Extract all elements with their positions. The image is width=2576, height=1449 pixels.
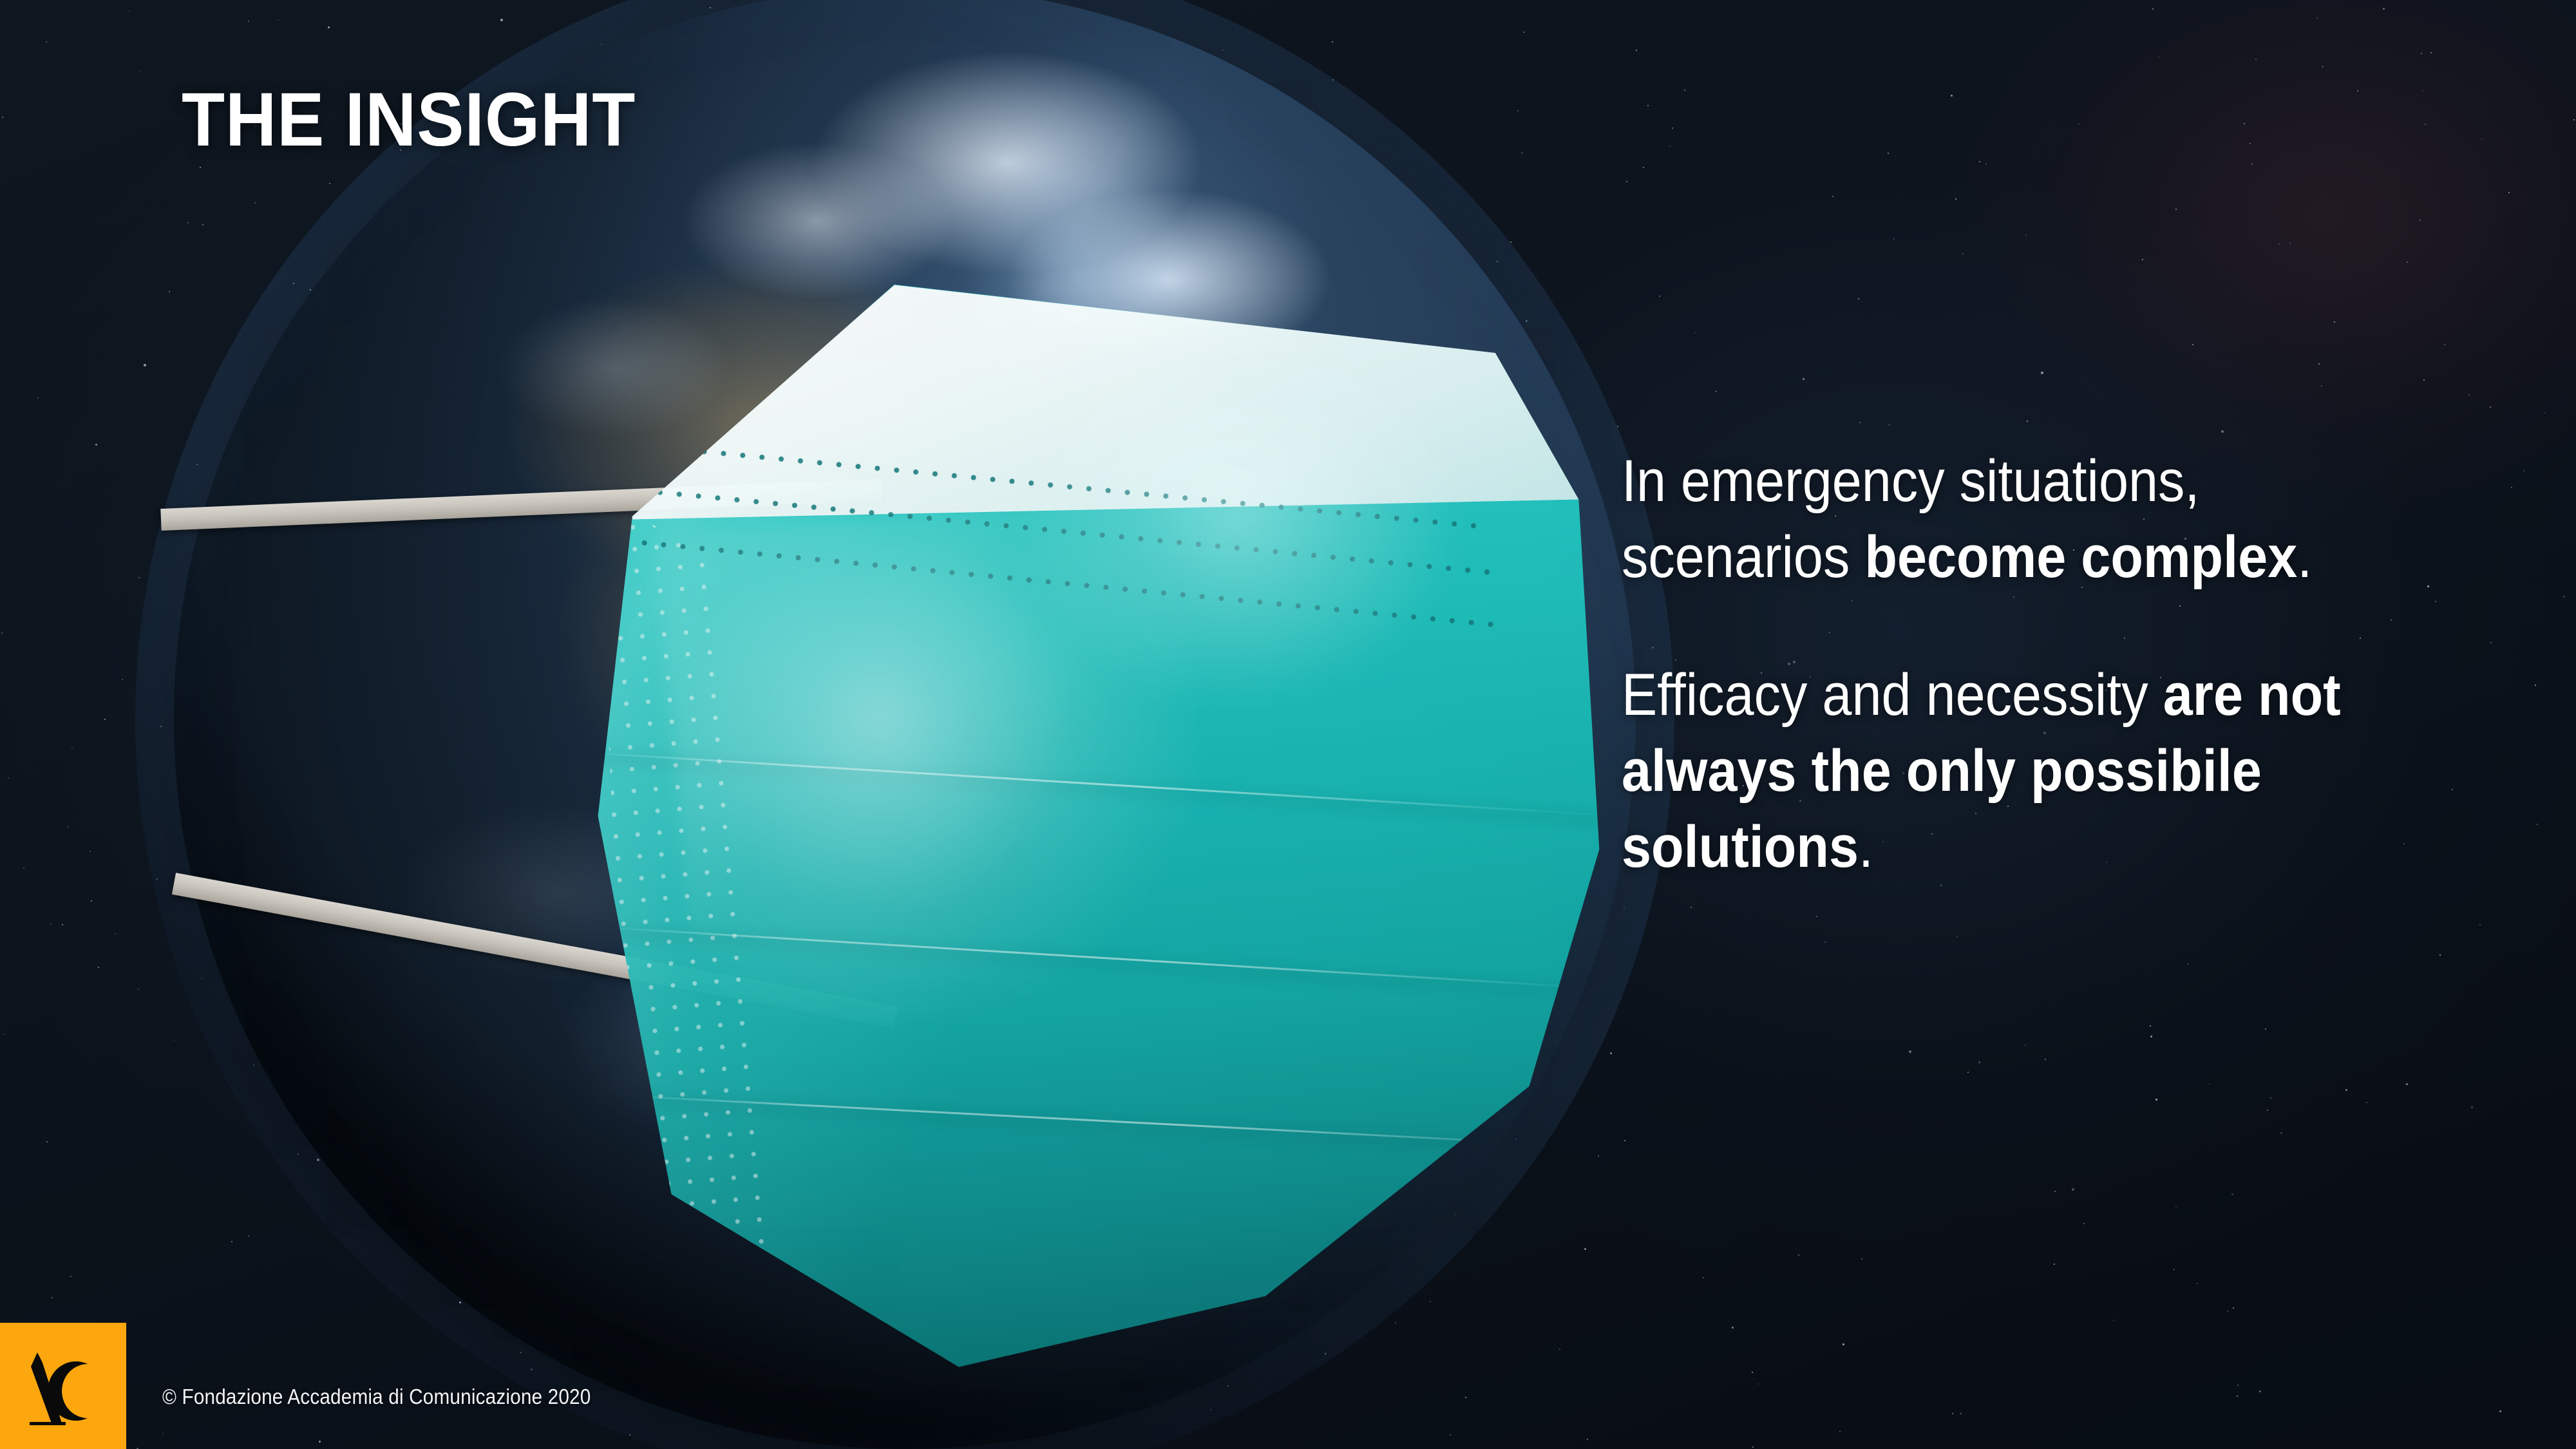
academy-logo <box>0 1323 126 1449</box>
paragraph-one-emphasis: become complex <box>1864 524 2297 590</box>
mask-body <box>553 216 1649 1394</box>
mask-pleat <box>627 1095 1631 1150</box>
paragraph-two-lead: Efficacy and necessity <box>1622 662 2163 728</box>
mask-highlight <box>1001 314 1474 723</box>
body-copy: In emergency situations, scenarios becom… <box>1622 443 2392 885</box>
paragraph-spacer <box>1622 595 2392 657</box>
paragraph-one-tail: . <box>2297 524 2312 590</box>
paragraph-two: Efficacy and necessity are not always th… <box>1622 657 2392 885</box>
surgical-mask-image <box>553 216 1649 1394</box>
paragraph-one: In emergency situations, scenarios becom… <box>1622 443 2392 595</box>
copyright-text: © Fondazione Accademia di Comunicazione … <box>162 1385 591 1409</box>
ac-monogram-icon <box>12 1341 115 1437</box>
page-title: THE INSIGHT <box>182 76 636 164</box>
paragraph-two-tail: . <box>1859 814 1873 880</box>
presentation-slide: THE INSIGHT In emergency situations, sce… <box>0 0 2576 1449</box>
